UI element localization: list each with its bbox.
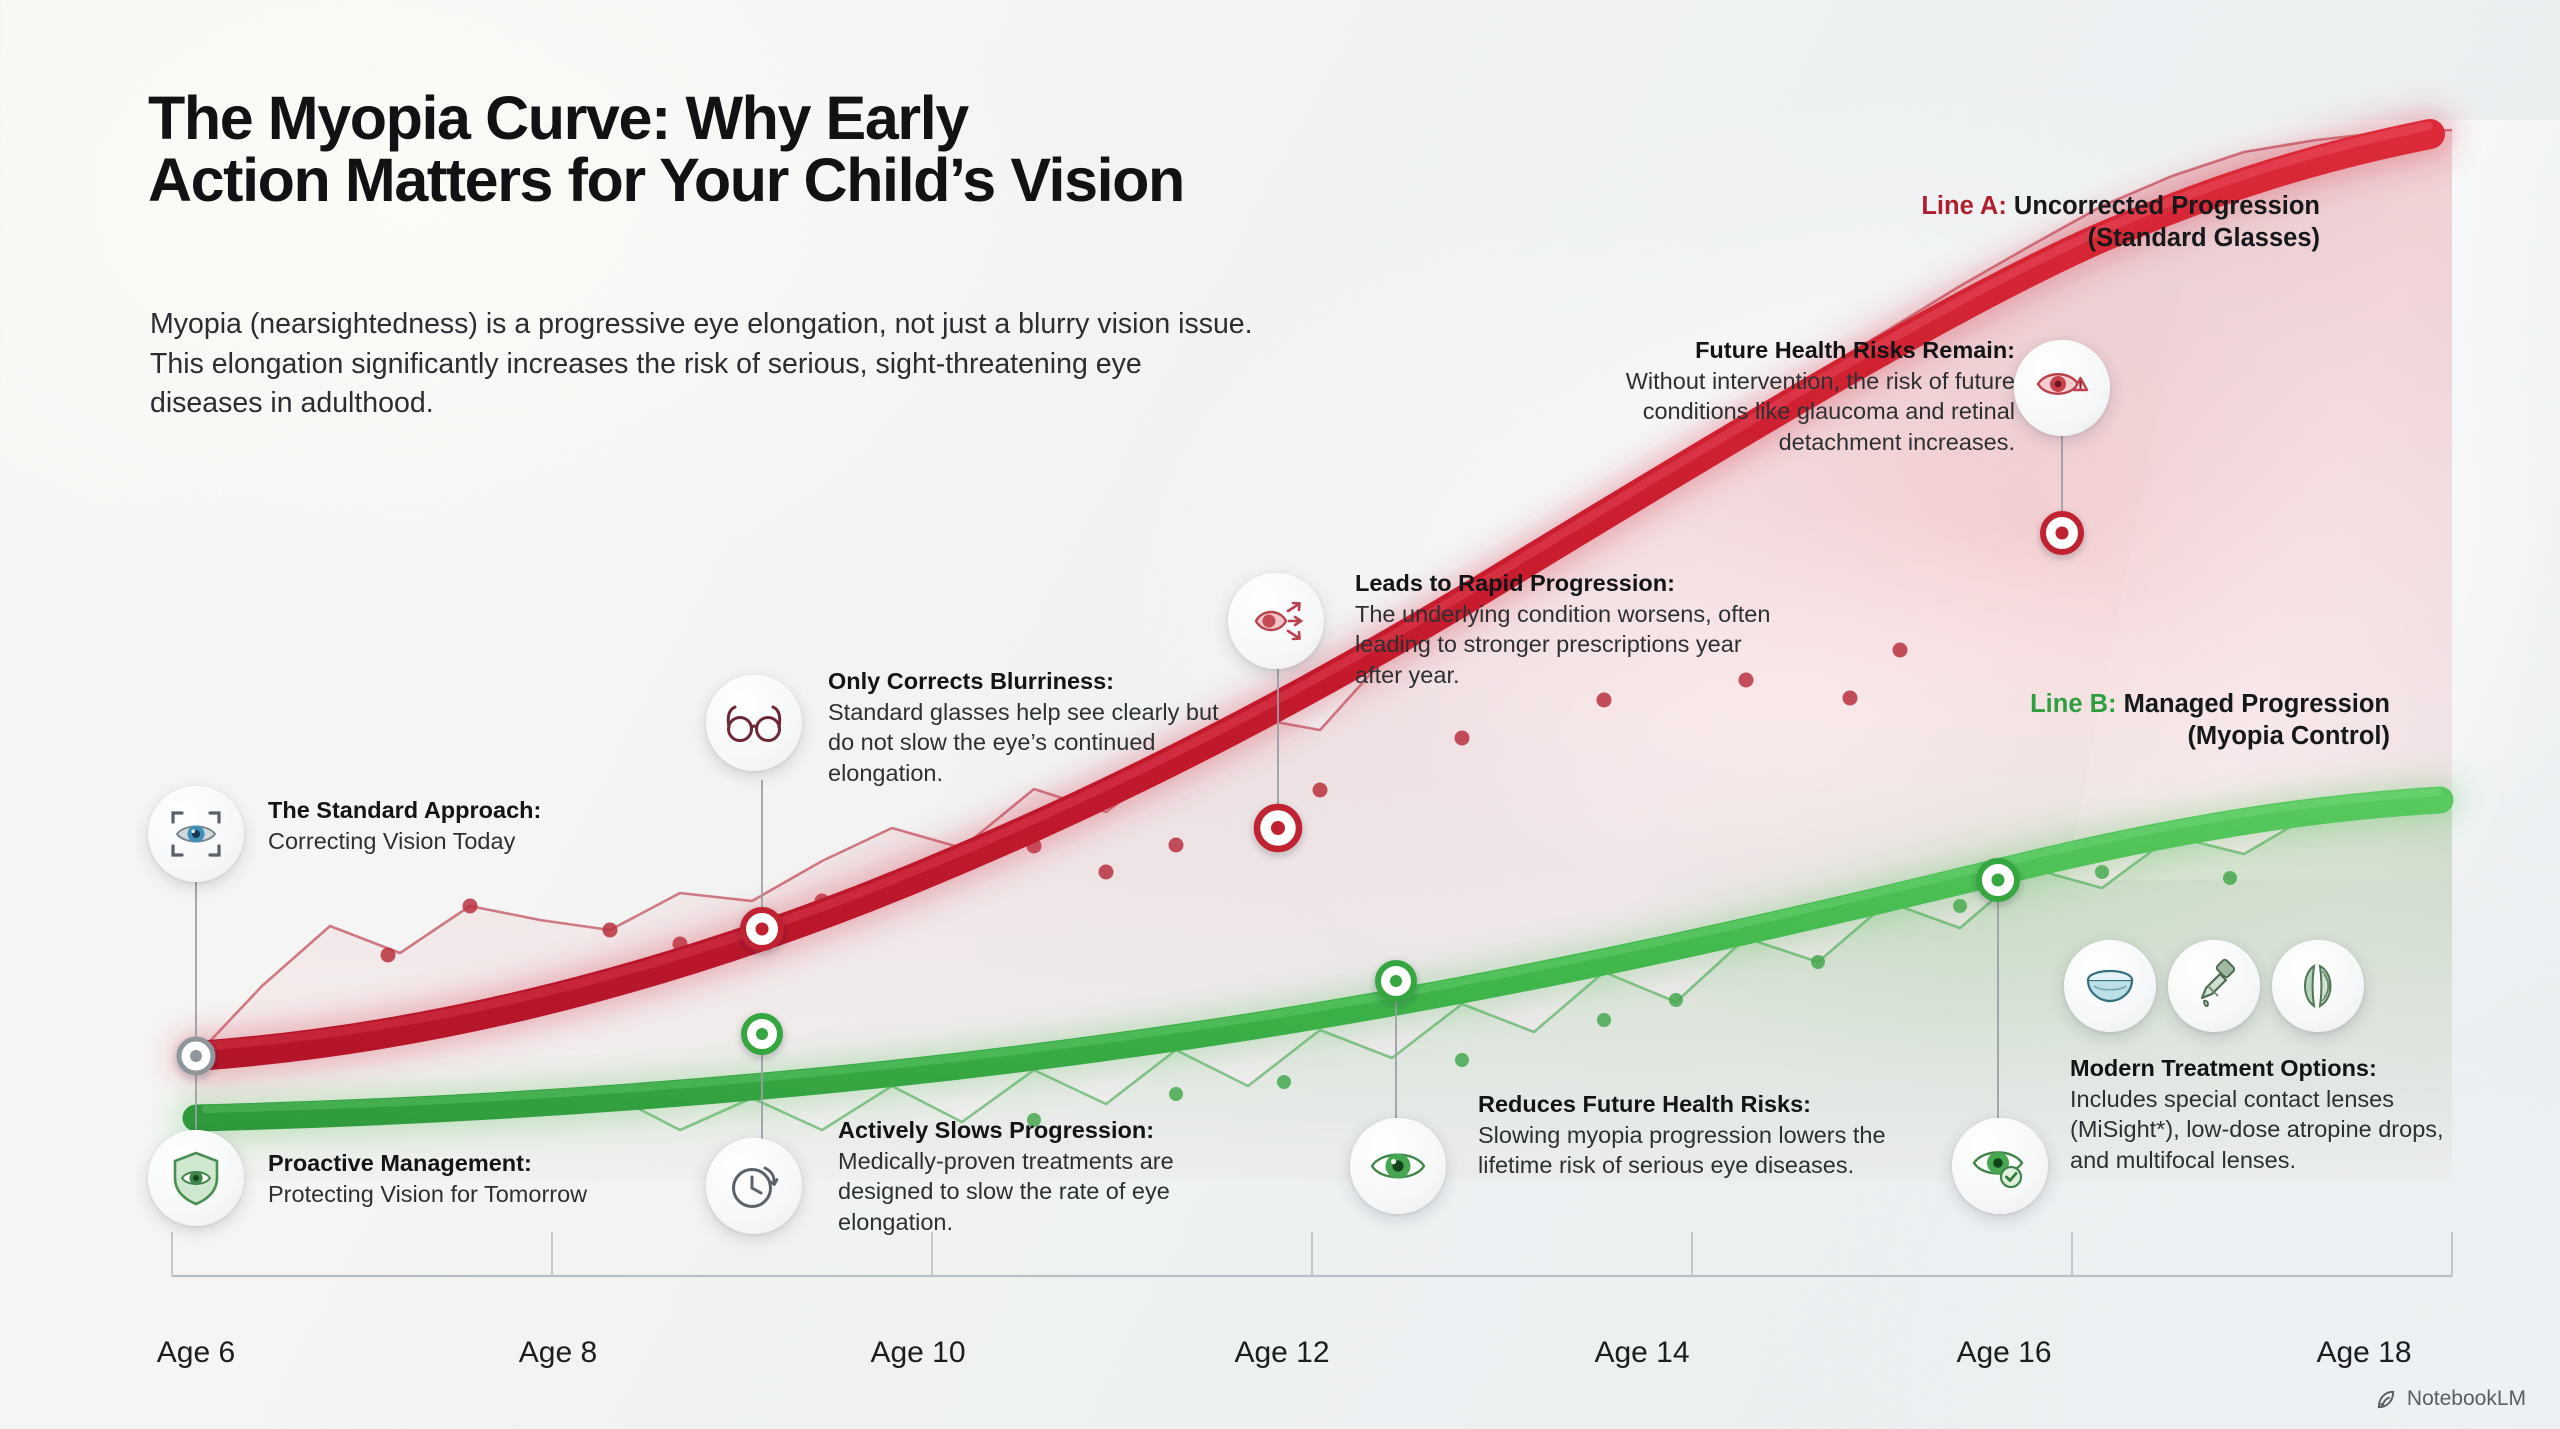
eye-warning-icon-glyph	[2030, 356, 2094, 420]
legend-line-b-sub: (Myopia Control)	[1560, 720, 2390, 752]
shield-eye-icon[interactable]	[148, 1130, 244, 1226]
callout-proactive-management: Proactive Management: Protecting Vision …	[268, 1148, 698, 1209]
glasses-icon-glyph	[722, 691, 786, 755]
callout-rapid-progression-body: The underlying condition worsens, often …	[1355, 599, 1785, 691]
callout-standard-approach-heading: The Standard Approach:	[268, 795, 668, 826]
eye-elongation-icon[interactable]	[1228, 573, 1324, 669]
callout-rapid-progression-heading: Leads to Rapid Progression:	[1355, 568, 1785, 599]
clock-arrow-icon[interactable]	[706, 1138, 802, 1234]
multifocal-lens-icon[interactable]	[2272, 940, 2364, 1032]
legend-line-a: Line A: Uncorrected Progression (Standar…	[1560, 190, 2320, 254]
eyedropper-icon[interactable]	[2168, 940, 2260, 1032]
green-eye-icon-glyph	[1366, 1134, 1430, 1198]
multifocal-lens-icon-glyph	[2288, 956, 2348, 1016]
node-b-age16[interactable]	[1979, 861, 2017, 899]
clock-arrow-icon-glyph	[723, 1155, 785, 1217]
notebooklm-watermark-label: NotebookLM	[2407, 1387, 2526, 1411]
eye-warning-icon[interactable]	[2014, 340, 2110, 436]
node-a-age16[interactable]	[2043, 514, 2081, 552]
glasses-icon[interactable]	[706, 675, 802, 771]
callout-future-health-risks-heading: Future Health Risks Remain:	[1565, 335, 2015, 366]
axis-tick-age-8: Age 8	[519, 1336, 597, 1370]
callout-actively-slows-progression-body: Medically-proven treatments are designed…	[838, 1146, 1238, 1238]
contact-lens-icon[interactable]	[2064, 940, 2156, 1032]
callout-modern-treatment-options: Modern Treatment Options: Includes speci…	[2070, 1053, 2470, 1175]
axis-tick-age-14: Age 14	[1594, 1336, 1689, 1370]
infographic-canvas: The Myopia Curve: Why Early Action Matte…	[0, 0, 2560, 1429]
x-axis	[172, 1232, 2452, 1276]
axis-tick-age-6: Age 6	[157, 1336, 235, 1370]
node-b-age9[interactable]	[744, 1016, 780, 1052]
callout-rapid-progression: Leads to Rapid Progression: The underlyi…	[1355, 568, 1785, 690]
callout-future-health-risks: Future Health Risks Remain: Without inte…	[1565, 335, 2015, 457]
legend-line-b-tag: Line B:	[2030, 690, 2116, 718]
eye-focus-icon[interactable]	[148, 786, 244, 882]
legend-line-a-sub: (Standard Glasses)	[1560, 222, 2320, 254]
callout-standard-approach-body: Correcting Vision Today	[268, 826, 668, 857]
legend-line-a-name: Uncorrected Progression	[2007, 192, 2320, 220]
callout-only-corrects-blurriness-heading: Only Corrects Blurriness:	[828, 666, 1228, 697]
axis-tick-age-18: Age 18	[2316, 1336, 2411, 1370]
legend-line-b: Line B: Managed Progression (Myopia Cont…	[1560, 688, 2390, 752]
axis-tick-age-10: Age 10	[870, 1336, 965, 1370]
callout-only-corrects-blurriness: Only Corrects Blurriness: Standard glass…	[828, 666, 1228, 788]
node-a-age12[interactable]	[1257, 807, 1299, 849]
callout-reduces-future-health-risks-heading: Reduces Future Health Risks:	[1478, 1089, 1908, 1120]
callout-future-health-risks-body: Without intervention, the risk of future…	[1565, 366, 2015, 458]
legend-line-b-name: Managed Progression	[2117, 690, 2390, 718]
axis-tick-age-16: Age 16	[1956, 1336, 2051, 1370]
callout-only-corrects-blurriness-body: Standard glasses help see clearly but do…	[828, 697, 1228, 789]
node-b-age13[interactable]	[1378, 963, 1414, 999]
eye-focus-icon-glyph	[165, 803, 227, 865]
eyedropper-icon-glyph	[2184, 956, 2244, 1016]
node-a-age6[interactable]	[179, 1039, 213, 1073]
eye-check-icon-glyph	[1968, 1134, 2032, 1198]
notebooklm-icon	[2375, 1388, 2398, 1411]
contact-lens-icon-glyph	[2080, 956, 2140, 1016]
eye-check-icon[interactable]	[1952, 1118, 2048, 1214]
callout-actively-slows-progression: Actively Slows Progression: Medically-pr…	[838, 1115, 1238, 1237]
axis-tick-age-12: Age 12	[1234, 1336, 1329, 1370]
node-a-age9[interactable]	[743, 910, 781, 948]
shield-eye-icon-glyph	[165, 1147, 227, 1209]
eye-elongation-icon-glyph	[1244, 589, 1308, 653]
notebooklm-watermark: NotebookLM	[2375, 1387, 2526, 1411]
callout-actively-slows-progression-heading: Actively Slows Progression:	[838, 1115, 1238, 1146]
callout-modern-treatment-options-heading: Modern Treatment Options:	[2070, 1053, 2470, 1084]
callout-standard-approach: The Standard Approach: Correcting Vision…	[268, 795, 668, 856]
legend-line-a-tag: Line A:	[1921, 192, 2006, 220]
callout-proactive-management-heading: Proactive Management:	[268, 1148, 698, 1179]
callout-modern-treatment-options-body: Includes special contact lenses (MiSight…	[2070, 1084, 2470, 1176]
green-eye-icon[interactable]	[1350, 1118, 1446, 1214]
callout-proactive-management-body: Protecting Vision for Tomorrow	[268, 1179, 698, 1210]
callout-reduces-future-health-risks-body: Slowing myopia progression lowers the li…	[1478, 1120, 1908, 1181]
callout-reduces-future-health-risks: Reduces Future Health Risks: Slowing myo…	[1478, 1089, 1908, 1181]
